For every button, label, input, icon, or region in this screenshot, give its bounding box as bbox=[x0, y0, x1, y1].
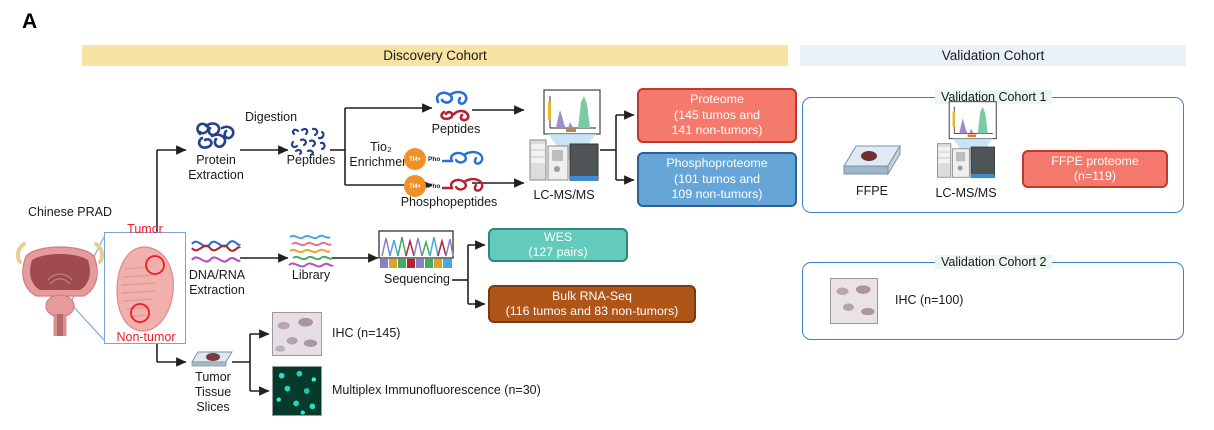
tumor-label: Tumor bbox=[104, 222, 186, 236]
digestion-label: Digestion bbox=[238, 110, 304, 125]
proteome-result-box: Proteome (145 tumos and 141 non-tumors) bbox=[637, 88, 797, 143]
validation-cohort-2-title: Validation Cohort 2 bbox=[935, 255, 1052, 269]
panel-letter: A bbox=[22, 10, 37, 34]
ffpe-proteome-result-box: FFPE proteome (n=119) bbox=[1022, 150, 1168, 188]
lc-ms-ms-instrument-icon bbox=[930, 100, 1002, 184]
dna-rna-extraction-label: DNA/RNA Extraction bbox=[178, 268, 256, 298]
proteome-line3: 141 non-tumors) bbox=[672, 123, 763, 139]
pho-tag-label: Pho bbox=[428, 156, 440, 163]
sequencing-label: Sequencing bbox=[372, 272, 462, 287]
wes-title: WES bbox=[528, 230, 587, 246]
multiplex-immunofluorescence-image-icon bbox=[272, 366, 322, 416]
bulk-rnaseq-result-box: Bulk RNA-Seq (116 tumos and 83 non-tumor… bbox=[488, 285, 696, 323]
multiplex-immunofluorescence-label: Multiplex Immunofluorescence (n=30) bbox=[332, 383, 632, 398]
phosphoproteome-line3: 109 non-tumors) bbox=[666, 187, 767, 203]
peptide-strands-icon bbox=[432, 88, 480, 122]
rnaseq-line2: (116 tumos and 83 non-tumors) bbox=[506, 304, 679, 320]
phosphoproteome-title: Phosphoproteome bbox=[666, 156, 767, 172]
peptides-top-label: Peptides bbox=[420, 122, 492, 137]
sequencing-icon bbox=[378, 230, 454, 270]
ffpe-proteome-title: FFPE proteome bbox=[1051, 154, 1138, 170]
tissue-slide-icon bbox=[188, 348, 234, 370]
tumor-region-callout bbox=[104, 232, 186, 344]
lcmsms-label: LC-MS/MS bbox=[518, 188, 610, 203]
discovery-cohort-title: Discovery Cohort bbox=[383, 48, 487, 63]
discovery-cohort-header: Discovery Cohort bbox=[82, 45, 788, 66]
ihc-label: IHC (n=145) bbox=[332, 326, 472, 341]
source-label: Chinese PRAD bbox=[10, 205, 130, 220]
prostate-anatomy-icon bbox=[14, 222, 110, 338]
lcmsms-label: LC-MS/MS bbox=[920, 186, 1012, 201]
phosphoproteome-result-box: Phosphoproteome (101 tumos and 109 non-t… bbox=[637, 152, 797, 207]
peptides-fragments-icon bbox=[288, 126, 330, 156]
ihc-validation-label: IHC (n=100) bbox=[895, 293, 1035, 308]
prostate-slice-icon bbox=[105, 233, 185, 343]
lc-ms-ms-instrument-icon bbox=[526, 88, 602, 188]
dna-rna-icon bbox=[190, 234, 242, 266]
rnaseq-title: Bulk RNA-Seq bbox=[506, 289, 679, 305]
ffpe-block-icon bbox=[838, 140, 908, 182]
ffpe-label: FFPE bbox=[836, 184, 908, 199]
ihc-image-icon bbox=[272, 312, 322, 356]
validation-cohort-title: Validation Cohort bbox=[942, 48, 1045, 63]
library-icon bbox=[288, 232, 334, 268]
phosphoproteome-line2: (101 tumos and bbox=[666, 172, 767, 188]
wes-result-box: WES (127 pairs) bbox=[488, 228, 628, 262]
tumor-tissue-slices-label: Tumor Tissue Slices bbox=[178, 370, 248, 414]
ffpe-proteome-line2: (n=119) bbox=[1051, 169, 1138, 185]
peptides-label: Peptides bbox=[280, 153, 342, 168]
proteome-line2: (145 tumos and bbox=[672, 108, 763, 124]
non-tumor-label: Non-tumor bbox=[100, 330, 192, 344]
phosphopeptides-label: Phosphopeptides bbox=[386, 195, 512, 210]
ti4-tag-icon: Ti4+ bbox=[404, 175, 426, 197]
ti4-tag-icon: Ti4+ bbox=[404, 148, 426, 170]
peptide-strand-blue-icon bbox=[442, 147, 486, 171]
ihc-image-icon bbox=[830, 278, 878, 324]
pho-tag-label: Pho bbox=[428, 183, 440, 190]
phosphopeptide-blue: Ti4+ Pho bbox=[404, 147, 486, 171]
wes-line2: (127 pairs) bbox=[528, 245, 587, 261]
library-label: Library bbox=[276, 268, 346, 283]
protein-icon bbox=[192, 118, 240, 152]
proteome-title: Proteome bbox=[672, 92, 763, 108]
protein-extraction-label: Protein Extraction bbox=[176, 153, 256, 183]
validation-cohort-header: Validation Cohort bbox=[800, 45, 1186, 66]
